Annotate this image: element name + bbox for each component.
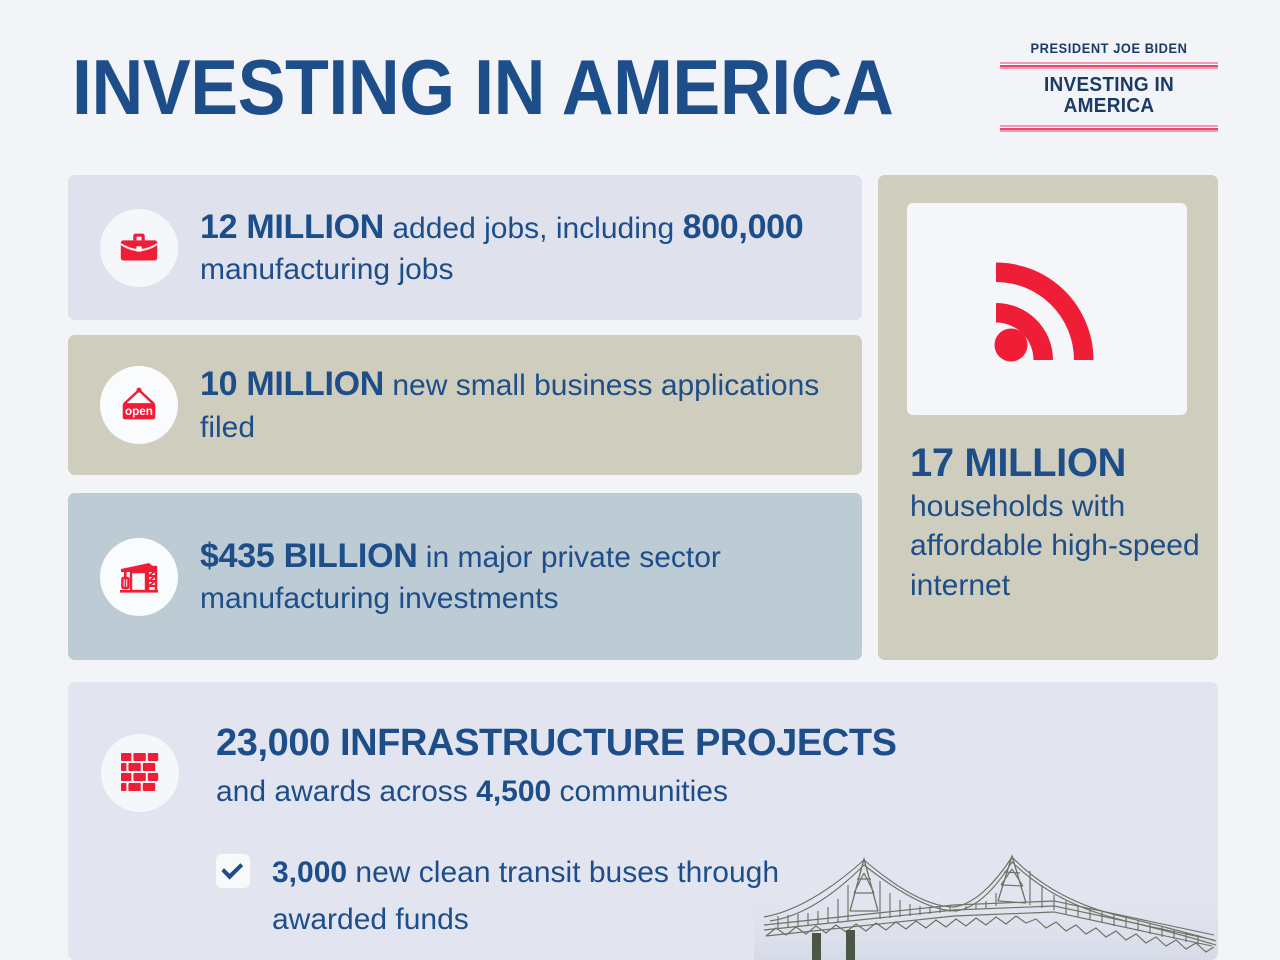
wifi-signal-icon-wrapper [907, 203, 1187, 415]
double-check-icon-wrapper [216, 854, 250, 888]
stat-card-jobs: 12 MILLION added jobs, including 800,000… [68, 175, 862, 320]
investing-in-america-logo: PRESIDENT JOE BIDEN INVESTING IN AMERICA [1000, 42, 1218, 132]
stat-value-jobs: 12 MILLION [200, 208, 384, 246]
stat-text-jobs-b: manufacturing jobs [200, 253, 453, 286]
infrastructure-section: 23,000 INFRASTRUCTURE PROJECTS and award… [68, 682, 1218, 960]
wifi-signal-icon [972, 234, 1122, 384]
logo-president-line: PRESIDENT JOE BIDEN [1005, 42, 1212, 57]
logo-main-line-2: AMERICA [1005, 96, 1212, 118]
bullet-text-transit-buses: 3,000 new clean transit buses through aw… [272, 850, 812, 943]
stat-value-small-business: 10 MILLION [200, 365, 384, 403]
stat-card-jobs-text: 12 MILLION added jobs, including 800,000… [200, 205, 862, 290]
stat-value-internet: 17 MILLION [910, 443, 1126, 483]
stat-card-investments: $435 BILLION in major private sector man… [68, 493, 862, 660]
suspension-bridge-photo [754, 829, 1218, 960]
infographic-page: INVESTING IN AMERICA PRESIDENT JOE BIDEN… [0, 0, 1280, 960]
stat-card-small-business: open 10 MILLION new small business appli… [68, 335, 862, 475]
logo-main-line-1: INVESTING IN [1005, 75, 1212, 97]
stat-card-investments-text: $435 BILLION in major private sector man… [200, 534, 862, 619]
stat-text-jobs-a: added jobs, including [384, 212, 683, 245]
stat-value-investments: $435 BILLION [200, 537, 417, 575]
stat-card-small-business-text: 10 MILLION new small business applicatio… [200, 362, 862, 447]
brick-wall-icon [120, 752, 160, 794]
open-sign-icon: open [116, 382, 162, 428]
stat-value-communities: 4,500 [476, 775, 551, 808]
stat-panel-internet: 17 MILLION households with affordable hi… [878, 175, 1218, 660]
briefcase-icon [116, 225, 162, 271]
infrastructure-sub-b: communities [551, 775, 728, 808]
infrastructure-sub-a: and awards across [216, 775, 476, 808]
factory-crane-icon-wrapper [100, 538, 178, 616]
page-title: INVESTING IN AMERICA [72, 48, 893, 126]
bullet-text-transit-buses-rest: new clean transit buses through awarded … [272, 856, 779, 936]
stat-value-transit-buses: 3,000 [272, 856, 347, 889]
logo-divider-top-icon [1000, 62, 1218, 69]
briefcase-icon-wrapper [100, 209, 178, 287]
logo-divider-bottom-icon [1000, 125, 1218, 132]
double-check-icon [221, 859, 245, 883]
brick-wall-icon-wrapper [101, 734, 179, 812]
list-item: 3,000 new clean transit buses through aw… [216, 850, 812, 943]
infrastructure-subline: and awards across 4,500 communities [216, 772, 728, 811]
svg-text:open: open [125, 405, 153, 418]
stat-value-manufacturing-jobs: 800,000 [683, 208, 804, 246]
stat-text-internet: households with affordable high-speed in… [910, 487, 1200, 605]
factory-crane-icon [115, 553, 163, 601]
infrastructure-headline: 23,000 INFRASTRUCTURE PROJECTS [216, 724, 897, 764]
open-sign-icon-wrapper: open [100, 366, 178, 444]
